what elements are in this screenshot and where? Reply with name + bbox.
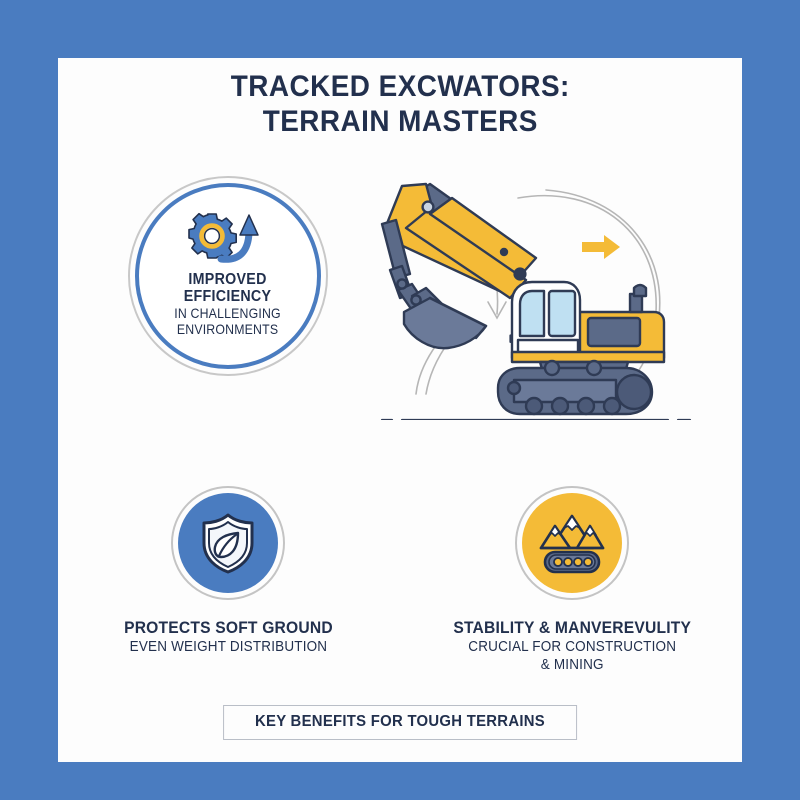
efficiency-line-1: IMPROVED xyxy=(172,271,283,289)
footer-banner: KEY BENEFITS FOR TOUGH TERRAINS xyxy=(223,705,577,740)
poster-frame: TRACKED EXCWATORS: TERRAIN MASTERS xyxy=(0,0,800,800)
title-line-1: TRACKED EXCWATORS: xyxy=(230,70,569,105)
efficiency-badge-text: IMPROVED EFFICIENCY IN CHALLENGING ENVIR… xyxy=(167,271,288,338)
title-line-2: TERRAIN MASTERS xyxy=(230,105,569,140)
shield-leaf-icon xyxy=(197,511,259,575)
efficiency-badge-ring: IMPROVED EFFICIENCY IN CHALLENGING ENVIR… xyxy=(135,183,321,369)
efficiency-badge: IMPROVED EFFICIENCY IN CHALLENGING ENVIR… xyxy=(128,176,328,376)
benefit-badge-ring xyxy=(515,486,629,600)
benefit-title: PROTECTS SOFT GROUND xyxy=(124,618,333,638)
page-title: TRACKED EXCWATORS: TERRAIN MASTERS xyxy=(218,70,583,140)
poster-card: TRACKED EXCWATORS: TERRAIN MASTERS xyxy=(58,58,742,762)
gear-with-arrow-icon xyxy=(186,209,270,265)
yellow-right-arrow-icon xyxy=(582,235,620,259)
benefit-badge-ring xyxy=(171,486,285,600)
benefit-subtitle: CRUCIAL FOR CONSTRUCTION xyxy=(456,638,689,656)
benefit-stability-maneuverability: STABILITY & MANVEREVULITY CRUCIAL FOR CO… xyxy=(449,486,695,674)
benefit-caption: PROTECTS SOFT GROUND EVEN WEIGHT DISTRIB… xyxy=(115,618,342,656)
benefit-disc xyxy=(522,493,622,593)
efficiency-line-4: ENVIRONMENTS xyxy=(175,322,282,338)
benefits-section: PROTECTS SOFT GROUND EVEN WEIGHT DISTRIB… xyxy=(58,486,742,674)
efficiency-line-3: IN CHALLENGING xyxy=(175,306,282,322)
track-assembly xyxy=(498,361,652,414)
mountain-track-icon xyxy=(537,512,607,574)
benefit-subtitle: EVEN WEIGHT DISTRIBUTION xyxy=(126,638,330,656)
upper-section: IMPROVED EFFICIENCY IN CHALLENGING ENVIR… xyxy=(58,162,742,420)
footer-banner-label: KEY BENEFITS FOR TOUGH TERRAINS xyxy=(255,713,545,731)
benefit-title: STABILITY & MANVEREVULITY xyxy=(453,618,691,638)
benefit-caption: STABILITY & MANVEREVULITY CRUCIAL FOR CO… xyxy=(443,618,701,674)
benefit-disc xyxy=(178,493,278,593)
efficiency-line-2: EFFICIENCY xyxy=(172,288,283,306)
benefit-protects-soft-ground: PROTECTS SOFT GROUND EVEN WEIGHT DISTRIB… xyxy=(105,486,351,674)
benefit-subtitle-2: & MINING xyxy=(456,656,689,674)
tracked-excavator-illustration xyxy=(368,162,698,420)
